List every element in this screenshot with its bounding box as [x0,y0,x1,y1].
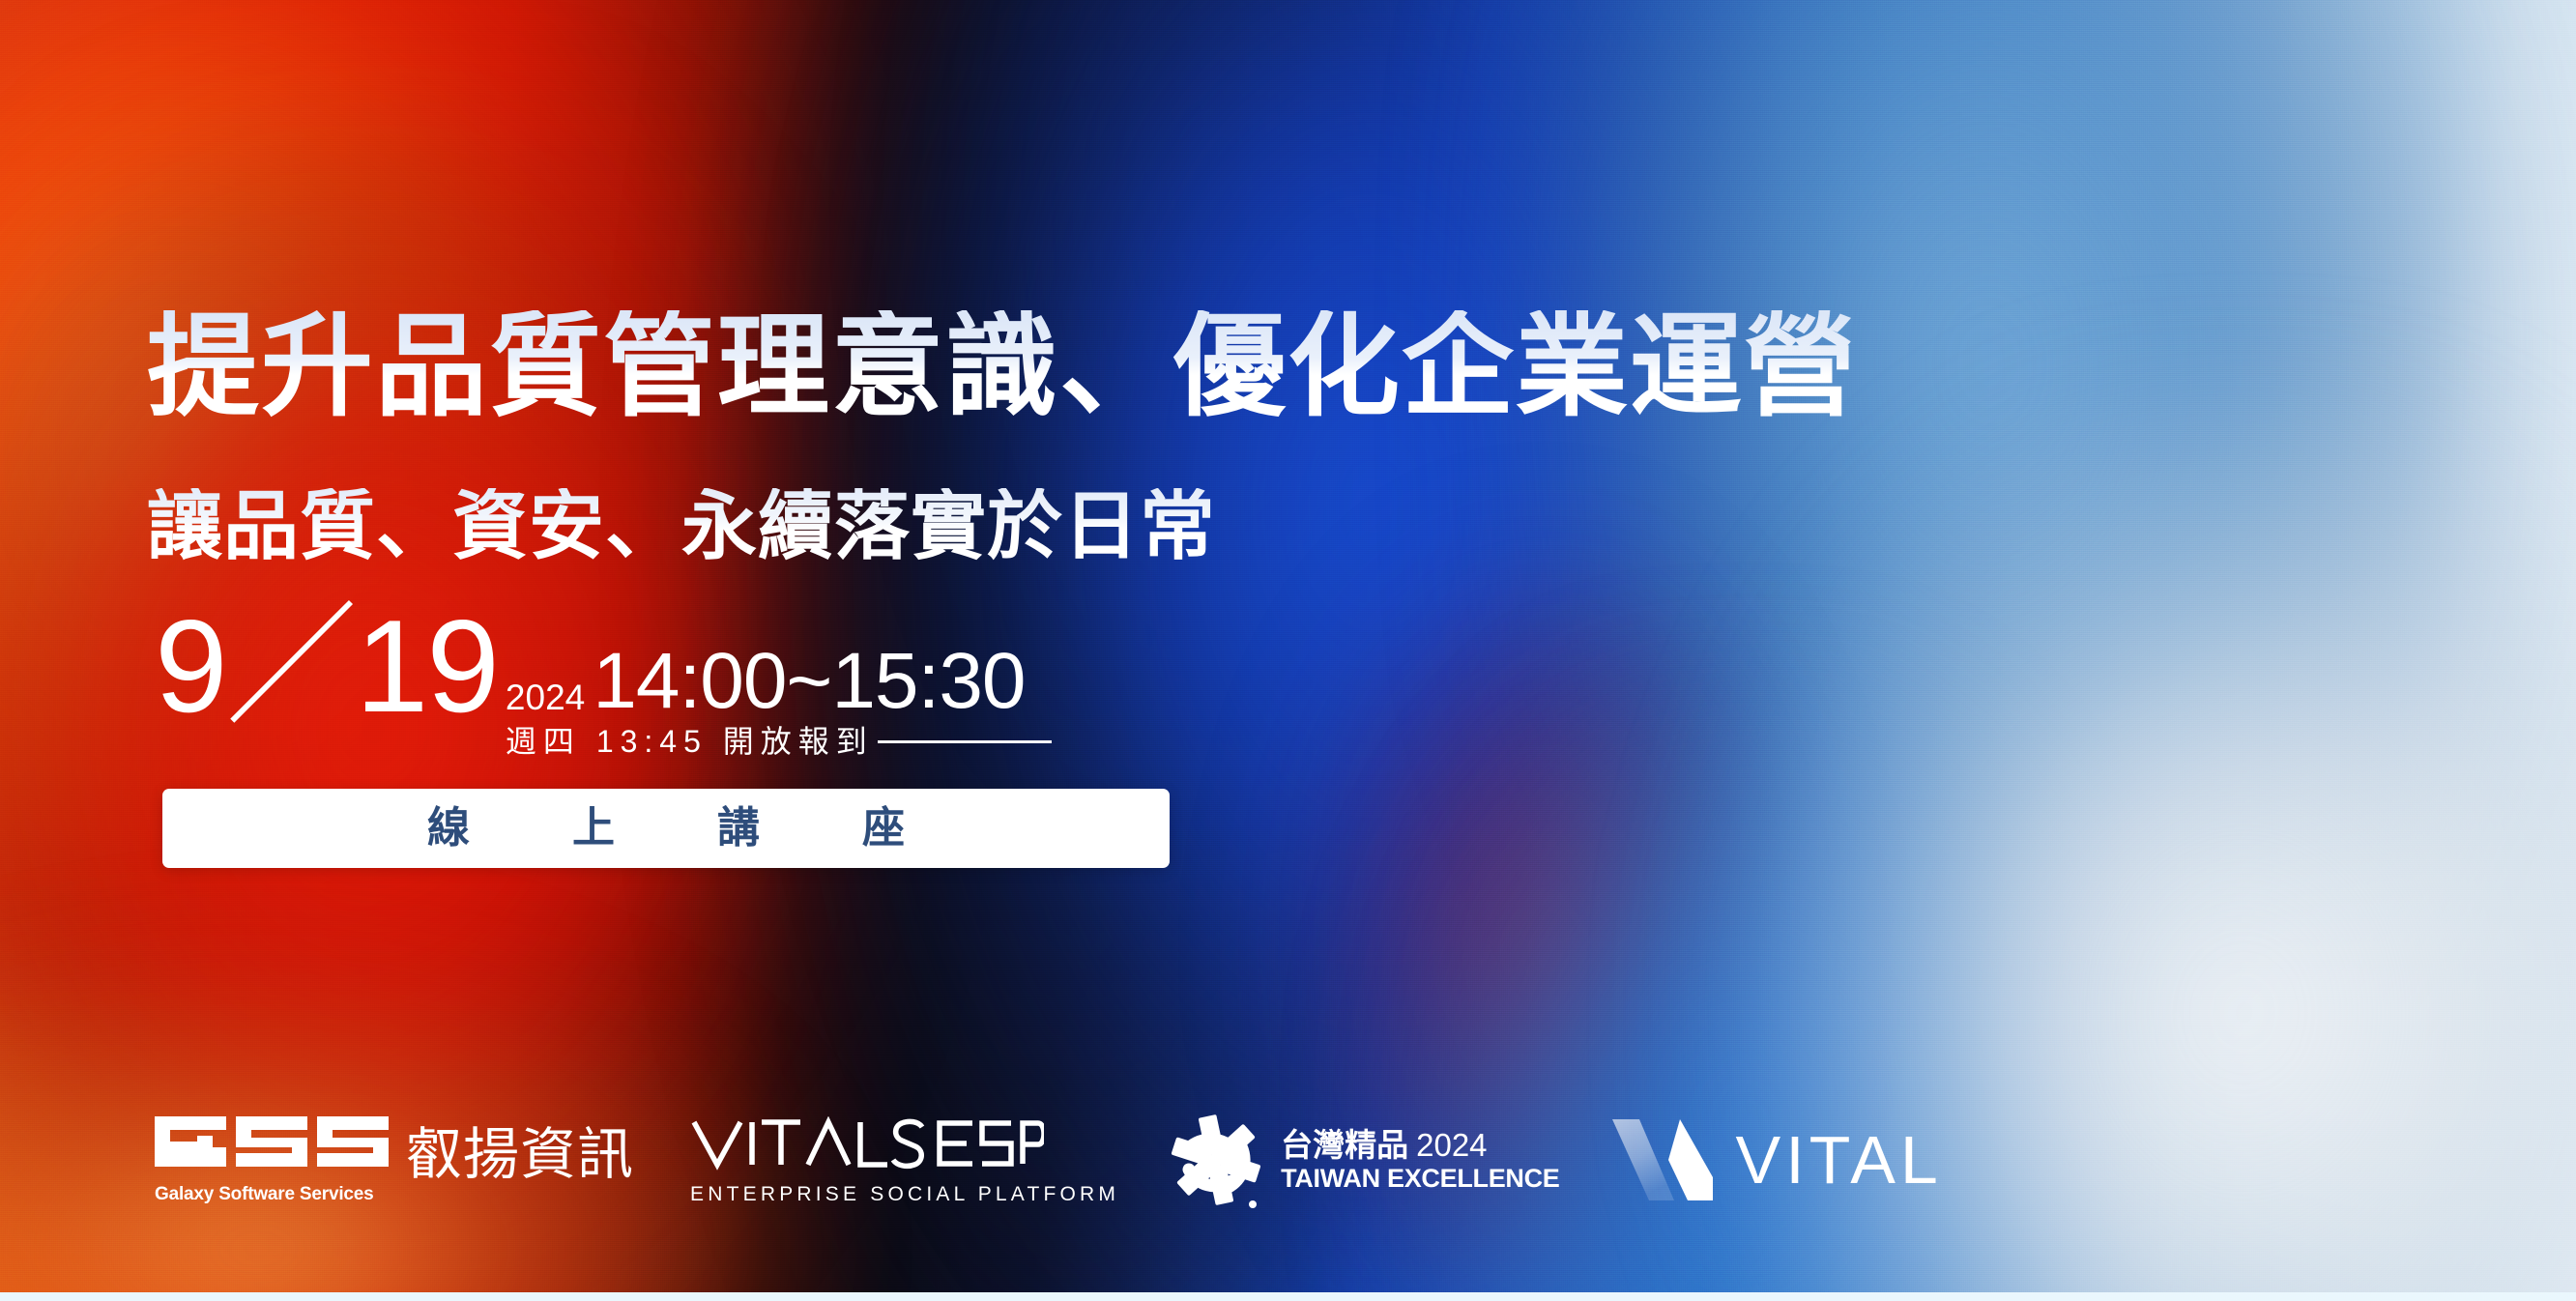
event-checkin-row: 週四 13:45 開放報到 [506,723,1052,760]
event-datetime-details: 2024 14:00~15:30 週四 13:45 開放報到 [506,609,1052,760]
taiwan-excellence-year: 2024 [1416,1129,1487,1161]
gss-logo-icon [155,1116,394,1180]
event-year: 2024 [506,679,585,715]
logo-gss: Galaxy Software Services 叡揚資訊 [155,1116,634,1203]
event-datetime-block: 9／19 2024 14:00~15:30 週四 13:45 開放報到 [155,609,1052,760]
taiwan-excellence-text: 台灣精品 2024 TAIWAN EXCELLENCE [1281,1129,1559,1192]
gss-tagline: Galaxy Software Services [155,1185,374,1203]
taiwan-excellence-chinese: 台灣精品 [1281,1129,1408,1161]
event-checkin-note: 週四 13:45 開放報到 [506,723,874,760]
logo-vitals-esp: ENTERPRISE SOCIAL PLATFORM [690,1116,1119,1204]
gss-mark-group: Galaxy Software Services [155,1116,394,1203]
logo-vital: VITAL [1610,1115,1943,1204]
vital-v-mark-icon [1610,1115,1715,1204]
subheadline: 讓品質、資安、永續落實於日常 [147,488,1216,564]
event-banner: 提升品質管理意識、優化企業運營 讓品質、資安、永續落實於日常 9／19 2024… [0,0,2576,1301]
seminar-format-button[interactable]: 線上講座 [162,789,1170,868]
vital-wordmark: VITAL [1736,1126,1943,1194]
bottom-strip [0,1292,2576,1301]
taiwan-excellence-line1: 台灣精品 2024 [1281,1129,1487,1161]
logo-taiwan-excellence: 台灣精品 2024 TAIWAN EXCELLENCE [1164,1108,1559,1212]
vitals-esp-tagline: ENTERPRISE SOCIAL PLATFORM [690,1184,1119,1204]
event-date: 9／19 [155,609,498,725]
taiwan-excellence-emblem-icon [1164,1108,1268,1212]
seminar-format-label: 線上講座 [325,807,1007,850]
sponsor-logo-row: Galaxy Software Services 叡揚資訊 [155,1108,1943,1212]
vitals-esp-wordmark-icon [690,1116,1044,1172]
decorative-rule [878,740,1052,743]
taiwan-excellence-english: TAIWAN EXCELLENCE [1281,1166,1559,1192]
banner-content: 提升品質管理意識、優化企業運營 讓品質、資安、永續落實於日常 9／19 2024… [0,0,2576,1301]
headline: 提升品質管理意識、優化企業運營 [147,310,1858,422]
gss-chinese-name: 叡揚資訊 [406,1127,634,1183]
event-time-row: 2024 14:00~15:30 [506,644,1052,719]
event-time-range: 14:00~15:30 [593,644,1025,719]
